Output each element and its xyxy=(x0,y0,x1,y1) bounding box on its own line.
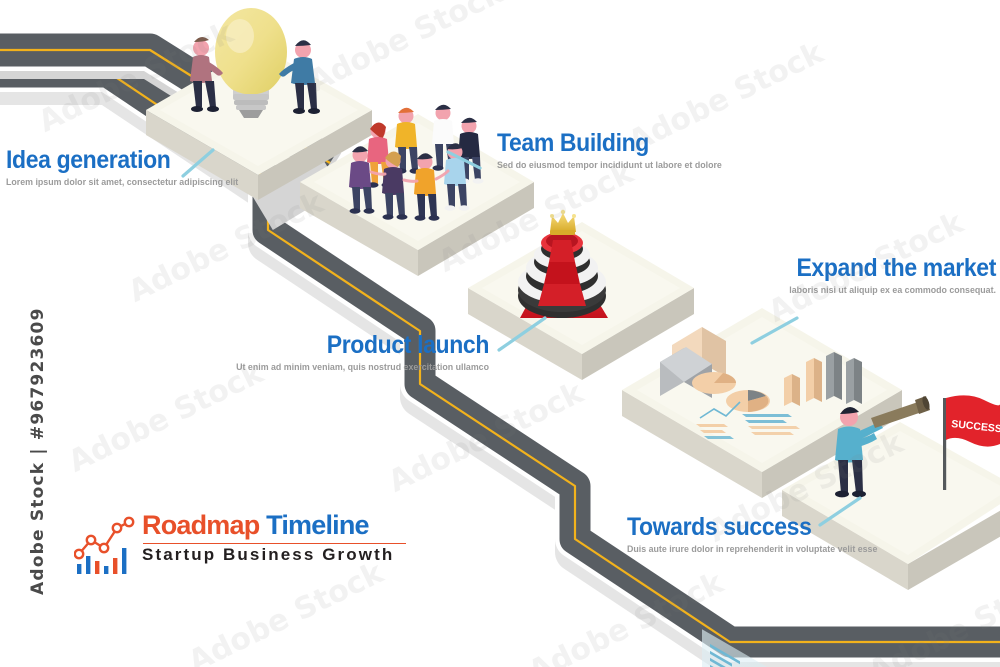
logo-word-roadmap: Roadmap xyxy=(142,510,259,540)
step-title-expand: Expand the market xyxy=(792,256,996,282)
step-subtitle-team: Sed do eiusmod tempor incididunt ut labo… xyxy=(497,161,722,171)
step-label-success: Towards success Duis aute irure dolor in… xyxy=(627,515,896,555)
step-title-success: Towards success xyxy=(627,515,875,541)
logo-wordmark: Roadmap Timeline xyxy=(142,511,406,540)
step-title-idea: Idea generation xyxy=(6,148,236,174)
step-subtitle-product: Ut enim ad minim veniam, quis nostrud ex… xyxy=(236,363,489,373)
step-label-expand: Expand the market laboris nisi ut aliqui… xyxy=(774,256,996,296)
logo-divider xyxy=(143,543,406,545)
step-subtitle-success: Duis aute irure dolor in reprehenderit i… xyxy=(627,545,877,555)
step-title-product: Product launch xyxy=(239,333,489,359)
brand-logo: Roadmap Timeline Startup Business Growth xyxy=(74,508,404,580)
stock-watermark-label: Adobe Stock | #967923609 xyxy=(28,335,48,595)
chart-line-bars-icon xyxy=(74,514,136,576)
step-label-idea: Idea generation Lorem ipsum dolor sit am… xyxy=(6,148,256,188)
step-subtitle-idea: Lorem ipsum dolor sit amet, consectetur … xyxy=(6,178,238,188)
infographic-canvas: SUCCESS xyxy=(0,0,1000,667)
logo-text: Roadmap Timeline Startup Business Growth xyxy=(142,511,406,565)
step-title-team: Team Building xyxy=(497,131,719,157)
step-label-team: Team Building Sed do eiusmod tempor inci… xyxy=(497,131,739,171)
logo-word-timeline: Timeline xyxy=(266,510,369,540)
step-subtitle-expand: laboris nisi ut aliquip ex ea commodo co… xyxy=(789,286,996,296)
step-label-product: Product launch Ut enim ad minim veniam, … xyxy=(217,333,489,373)
logo-tagline: Startup Business Growth xyxy=(142,546,406,565)
